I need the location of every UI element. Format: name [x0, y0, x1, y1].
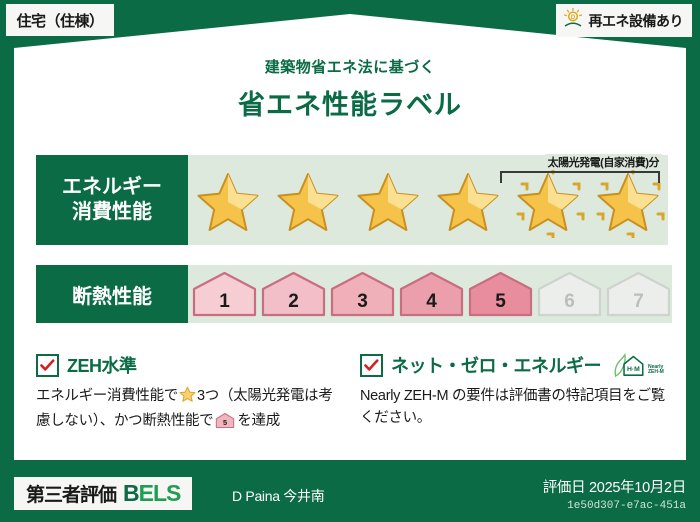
evaluation-id: 1e50d307-e7ac-451a	[543, 500, 686, 512]
bels-logo-els: ELS	[139, 480, 181, 507]
energy-performance-row: エネルギー 消費性能 太陽光発電(自家消費)分	[36, 155, 666, 245]
zeh-description: エネルギー消費性能で3つ（太陽光発電は考慮しない）、かつ断熱性能で5を達成	[36, 385, 336, 437]
building-type-tag: 住宅（住棟）	[6, 4, 114, 36]
checkmark-icon	[36, 354, 59, 377]
star-rating-track: 太陽光発電(自家消費)分	[188, 155, 668, 245]
renewable-badge-label: 再エネ設備あり	[589, 11, 684, 31]
bels-certification-box: 第三者評価 B ELS	[14, 477, 192, 510]
star-icon-inline	[179, 386, 196, 410]
net-zero-description: Nearly ZEH-M の要件は評価書の特記項目をご覧ください。	[360, 385, 670, 430]
sun-icon: D	[562, 7, 584, 34]
energy-performance-label: エネルギー 消費性能	[36, 155, 188, 245]
net-zero-title: ネット・ゼロ・エネルギー	[391, 352, 601, 378]
zeh-title: ZEH水準	[67, 352, 137, 378]
energy-label-line1: エネルギー	[62, 175, 162, 200]
bels-jp-label: 第三者評価	[26, 480, 116, 507]
renewable-equipment-badge: D 再エネ設備あり	[556, 4, 693, 37]
zeh-text-part3: を達成	[237, 413, 280, 429]
energy-label-line2: 消費性能	[72, 200, 152, 225]
insulation-label-text: 断熱性能	[72, 280, 152, 309]
insulation-badge-active: 4	[398, 270, 465, 318]
insulation-badge-active: 1	[191, 270, 258, 318]
bels-logo-b: B	[123, 480, 139, 507]
insulation-performance-label: 断熱性能	[36, 265, 188, 323]
star-icon-filled	[268, 162, 348, 238]
insulation-badge-active: 3	[329, 270, 396, 318]
evaluation-info: 評価日 2025年10月2日 1e50d307-e7ac-451a	[543, 476, 686, 512]
evaluation-date: 評価日 2025年10月2日	[543, 476, 686, 497]
evaluation-date-value: 2025年10月2日	[589, 480, 686, 496]
insulation-badge-inactive: 6	[536, 270, 603, 318]
star-icon-filled	[428, 162, 508, 238]
insulation-badge-active: 5	[467, 270, 534, 318]
house-badge-icon-inline: 5	[215, 412, 235, 436]
svg-text:H·M: H·M	[627, 366, 640, 373]
title-block: 建築物省エネ法に基づく 省エネ性能ラベル	[0, 56, 700, 122]
building-type-label: 住宅（住棟）	[16, 10, 103, 31]
star-icon-filled	[348, 162, 428, 238]
zeh-standard-section: ZEH水準 エネルギー消費性能で3つ（太陽光発電は考慮しない）、かつ断熱性能で5…	[36, 352, 336, 437]
solar-bracket	[500, 171, 660, 183]
property-name: D Paina 今井南	[232, 486, 324, 506]
insulation-badge-inactive: 7	[605, 270, 672, 318]
insulation-badge-active: 2	[260, 270, 327, 318]
title-subtitle: 建築物省エネ法に基づく	[0, 56, 700, 77]
page-title: 省エネ性能ラベル	[0, 83, 700, 122]
svg-text:5: 5	[223, 418, 227, 427]
solar-caption: 太陽光発電(自家消費)分	[545, 154, 662, 170]
insulation-performance-row: 断熱性能 1234567	[36, 265, 666, 323]
svg-text:D: D	[570, 15, 575, 21]
insulation-level-badges: 1234567	[188, 270, 672, 318]
net-zero-energy-section: ネット・ゼロ・エネルギー H·M Nearly ZEH-M Nearly ZEH…	[360, 352, 670, 430]
nearly-zeh-m-logo: H·M Nearly ZEH-M	[613, 352, 664, 378]
star-icon-filled	[188, 162, 268, 238]
evaluation-date-label: 評価日	[543, 480, 586, 496]
zehm-logo-sub2: ZEH-M	[648, 370, 664, 375]
zeh-text-part1: エネルギー消費性能で	[36, 388, 178, 404]
checkmark-icon	[360, 354, 383, 377]
